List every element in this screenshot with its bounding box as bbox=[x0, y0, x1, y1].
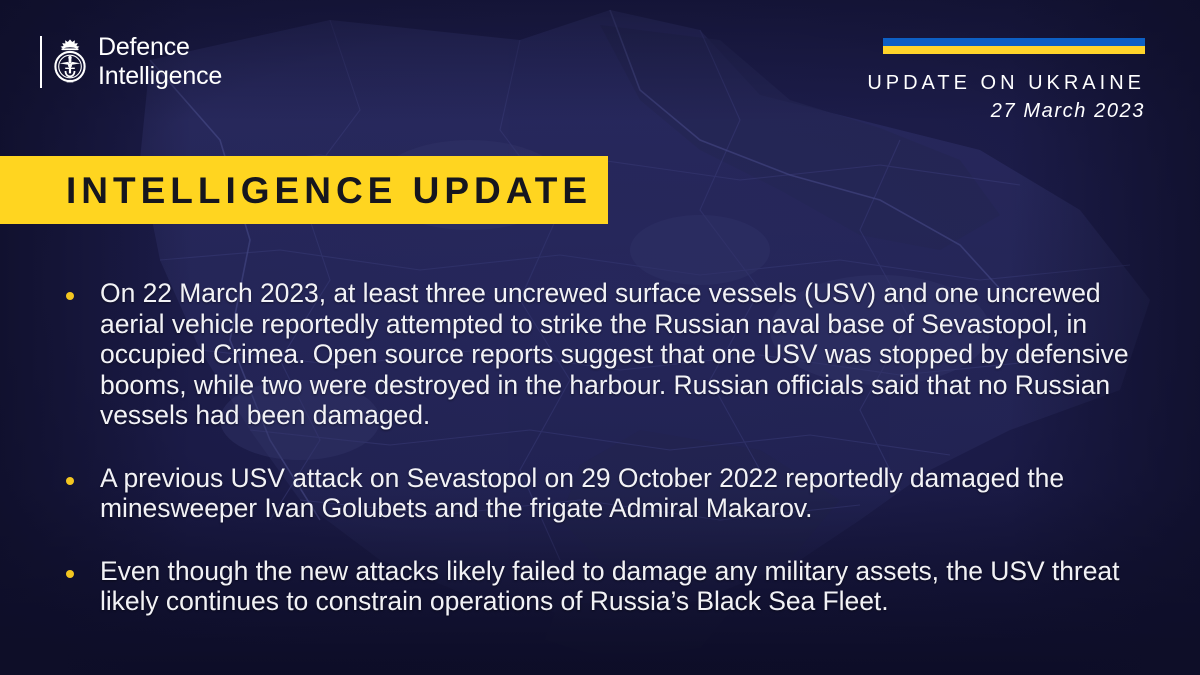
bullet-dot-icon bbox=[66, 477, 74, 485]
defence-intelligence-crest-icon bbox=[53, 38, 87, 86]
brand-divider-rule bbox=[40, 36, 42, 88]
brand-name: Defence Intelligence bbox=[98, 33, 222, 91]
list-item: A previous USV attack on Sevastopol on 2… bbox=[0, 463, 1200, 524]
bullet-text: Even though the new attacks likely faile… bbox=[100, 556, 1160, 617]
brand-lockup: Defence Intelligence bbox=[40, 33, 222, 91]
banner-label: INTELLIGENCE UPDATE bbox=[66, 172, 592, 209]
bullet-text: On 22 March 2023, at least three uncrewe… bbox=[100, 278, 1160, 431]
intelligence-update-graphic: Defence Intelligence UPDATE ON UKRAINE 2… bbox=[0, 0, 1200, 675]
list-item: On 22 March 2023, at least three uncrewe… bbox=[0, 278, 1200, 431]
bullet-dot-icon bbox=[66, 570, 74, 578]
flag-blue-band bbox=[883, 38, 1145, 46]
header: Defence Intelligence UPDATE ON UKRAINE 2… bbox=[0, 0, 1200, 150]
intelligence-update-banner: INTELLIGENCE UPDATE bbox=[0, 156, 608, 224]
bullet-dot-icon bbox=[66, 292, 74, 300]
bullet-text: A previous USV attack on Sevastopol on 2… bbox=[100, 463, 1160, 524]
header-title: UPDATE ON UKRAINE bbox=[867, 72, 1145, 95]
header-date: 27 March 2023 bbox=[991, 100, 1145, 123]
bullet-list: On 22 March 2023, at least three uncrewe… bbox=[0, 278, 1200, 617]
ukraine-flag-bar-icon bbox=[883, 38, 1145, 54]
flag-yellow-band bbox=[883, 46, 1145, 54]
list-item: Even though the new attacks likely faile… bbox=[0, 556, 1200, 617]
